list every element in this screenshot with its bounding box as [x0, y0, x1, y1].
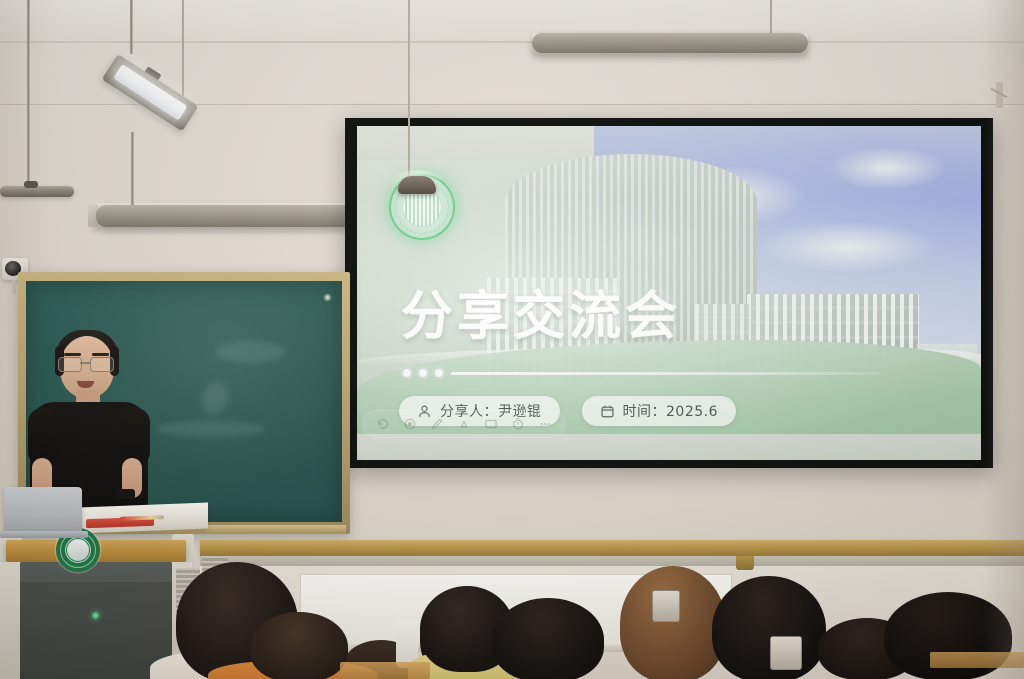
slide-divider — [403, 369, 881, 377]
right-wall-shading — [982, 0, 1024, 679]
classroom-photo: 分享交流会 分享人：尹逊锟 — [0, 0, 1024, 679]
laptop[interactable] — [4, 487, 82, 539]
more-icon[interactable] — [538, 417, 552, 431]
chalk-smudge-3 — [197, 378, 232, 418]
student-head-2 — [250, 612, 348, 679]
laptop-base — [0, 531, 88, 538]
cloud-4 — [827, 146, 947, 190]
divider-dot-3 — [435, 369, 443, 377]
seal-crest — [66, 538, 90, 562]
student-head-6 — [712, 576, 826, 679]
lectern-panel — [20, 582, 172, 679]
desk-edge-1 — [340, 662, 430, 679]
camera-mount — [12, 280, 16, 294]
lamp-rod-right — [770, 0, 772, 34]
glasses-lens-right — [90, 357, 114, 372]
wall-rail-lower — [200, 556, 1024, 566]
ceiling-seam — [0, 41, 1024, 43]
hair-clip-1 — [652, 590, 680, 622]
date-pill-label: 时间：2025.6 — [623, 401, 719, 421]
wristwatch — [116, 489, 135, 499]
glasses — [58, 357, 116, 370]
lamp-rod-left — [27, 0, 30, 186]
presenter-brow-right — [92, 353, 109, 356]
presenter-brow-left — [64, 353, 81, 356]
slide-view-icon[interactable] — [484, 417, 498, 431]
chalk-smudge-2 — [156, 421, 266, 437]
lectern-column-left — [0, 562, 20, 679]
rail-bracket-1 — [736, 556, 754, 570]
presenter-toolbar[interactable] — [363, 410, 565, 438]
slide-title: 分享交流会 — [401, 274, 681, 349]
power-led — [92, 612, 99, 619]
presenter-sleeve-right — [120, 408, 150, 466]
undo-icon[interactable] — [376, 417, 390, 431]
laptop-lid — [4, 487, 82, 533]
ceiling-lamp-long-right — [532, 33, 808, 53]
laser-pointer-icon[interactable] — [403, 417, 417, 431]
projection-screen-frame: 分享交流会 分享人：尹逊锟 — [345, 118, 993, 468]
projection-screen[interactable]: 分享交流会 分享人：尹逊锟 — [357, 126, 981, 460]
ceiling-lamp-edge-left — [0, 186, 74, 197]
calendar-icon — [600, 404, 615, 419]
pendant-rod — [408, 0, 410, 176]
student-head-5 — [620, 566, 726, 679]
glasses-lens-left — [58, 357, 82, 372]
lamp-rod-angled-a — [130, 0, 133, 54]
ceiling-lamp-long-bar — [96, 205, 368, 227]
lamp-mount-left — [24, 181, 38, 188]
board-glare — [323, 293, 332, 302]
pen-icon[interactable] — [430, 417, 444, 431]
lamp-rod-long — [131, 132, 134, 210]
wall-rail-upper — [200, 540, 1024, 556]
divider-rule — [451, 372, 881, 375]
divider-dot-1 — [403, 369, 411, 377]
highlighter-icon[interactable] — [457, 417, 471, 431]
divider-dot-2 — [419, 369, 427, 377]
chalk-smudge-1 — [216, 341, 286, 363]
pendant-dome-lamp — [398, 176, 436, 194]
lamp-rod-angled-b — [182, 0, 184, 96]
date-pill: 时间：2025.6 — [582, 396, 737, 426]
timer-icon[interactable] — [511, 417, 525, 431]
student-head-4 — [492, 598, 604, 679]
glasses-bridge — [80, 362, 90, 364]
cloud-2 — [757, 221, 937, 273]
hair-clip-2 — [770, 636, 802, 670]
ceiling — [0, 0, 1024, 42]
